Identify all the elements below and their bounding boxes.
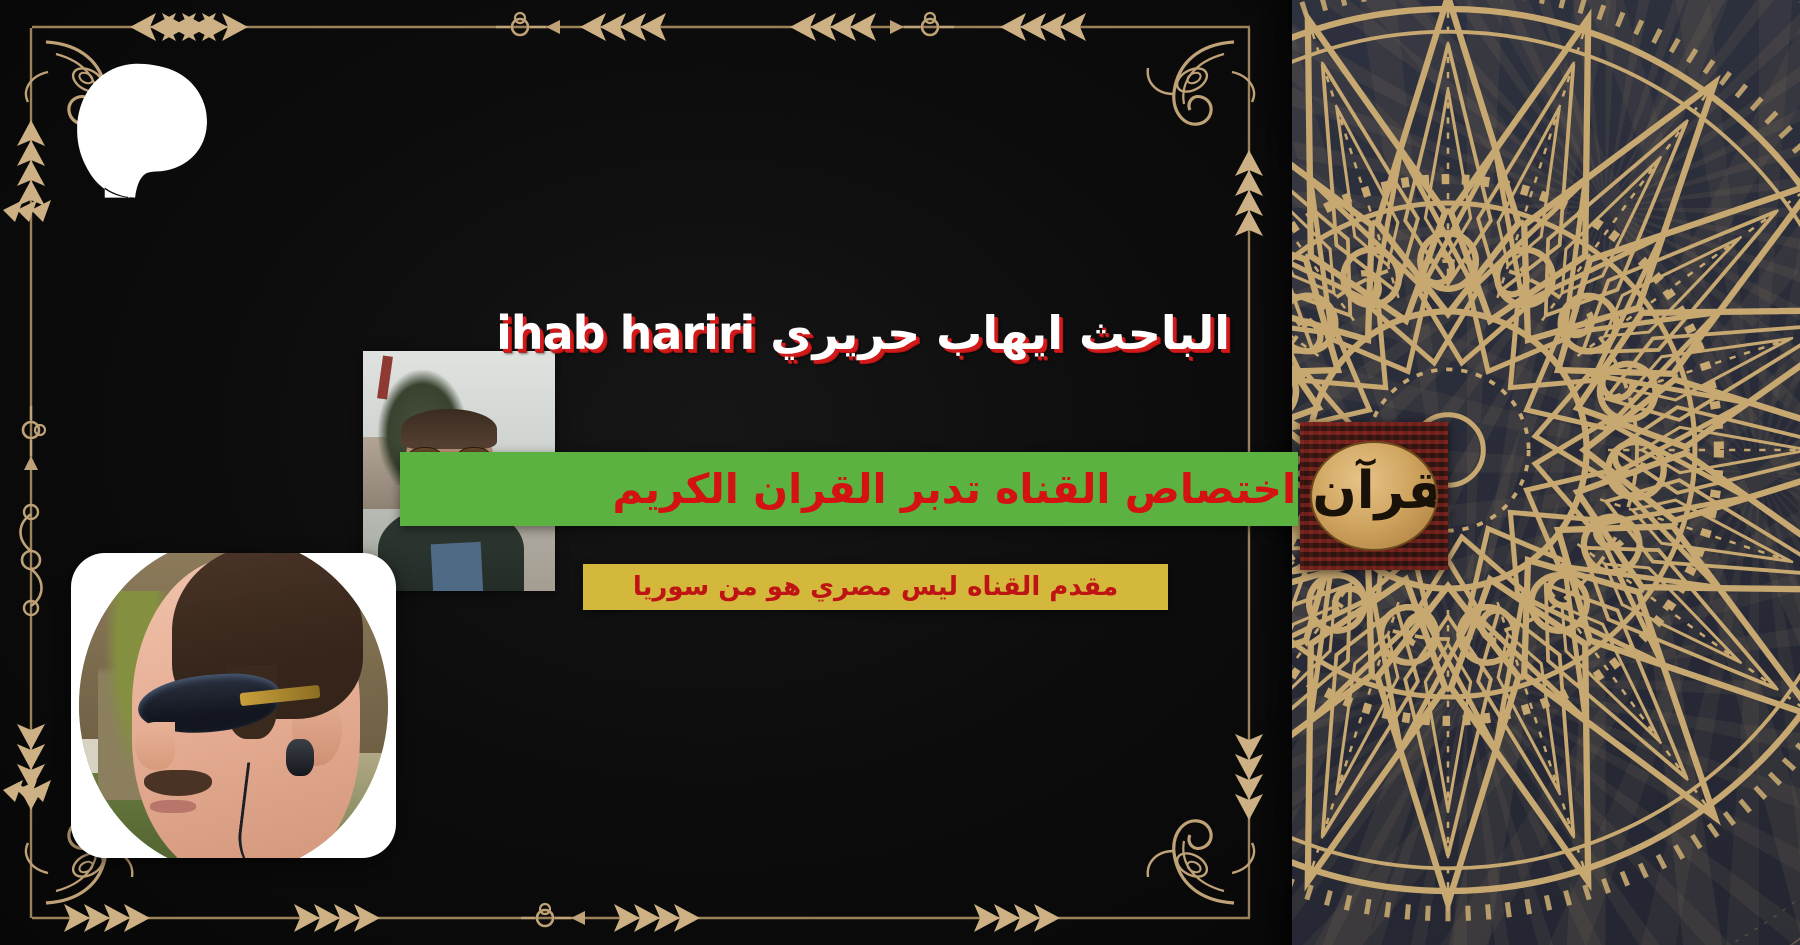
channel-title-text: الباحث ايهاب حريري ihab hariri	[496, 306, 1230, 360]
profile-photo-circle	[79, 553, 388, 858]
origin-banner-text: مقدم القناه ليس مصري هو من سوريا	[633, 572, 1118, 602]
channel-title: الباحث ايهاب حريري ihab hariri	[430, 306, 1230, 364]
quran-cover-thumbnail: القرآن	[1300, 422, 1448, 570]
quran-calligraphy: القرآن	[1312, 443, 1435, 549]
photo-shirt	[431, 542, 484, 591]
profile-earphone-wire	[233, 762, 314, 858]
profile-lip	[150, 800, 196, 813]
specialty-banner: اختصاص القناه تدبر القران الكريم	[400, 452, 1298, 526]
screenshot-root: القرآن الباحث ايهاب حريري ihab hariri اخ…	[0, 0, 1800, 945]
specialty-banner-text: اختصاص القناه تدبر القران الكريم	[612, 465, 1298, 513]
quran-cover-oval: القرآن	[1310, 441, 1437, 551]
patreon-p-logo-icon[interactable]	[73, 60, 211, 200]
photo-hair	[401, 409, 497, 450]
profile-nose	[135, 722, 175, 769]
profile-photo-card	[71, 553, 396, 858]
origin-banner: مقدم القناه ليس مصري هو من سوريا	[583, 564, 1168, 610]
